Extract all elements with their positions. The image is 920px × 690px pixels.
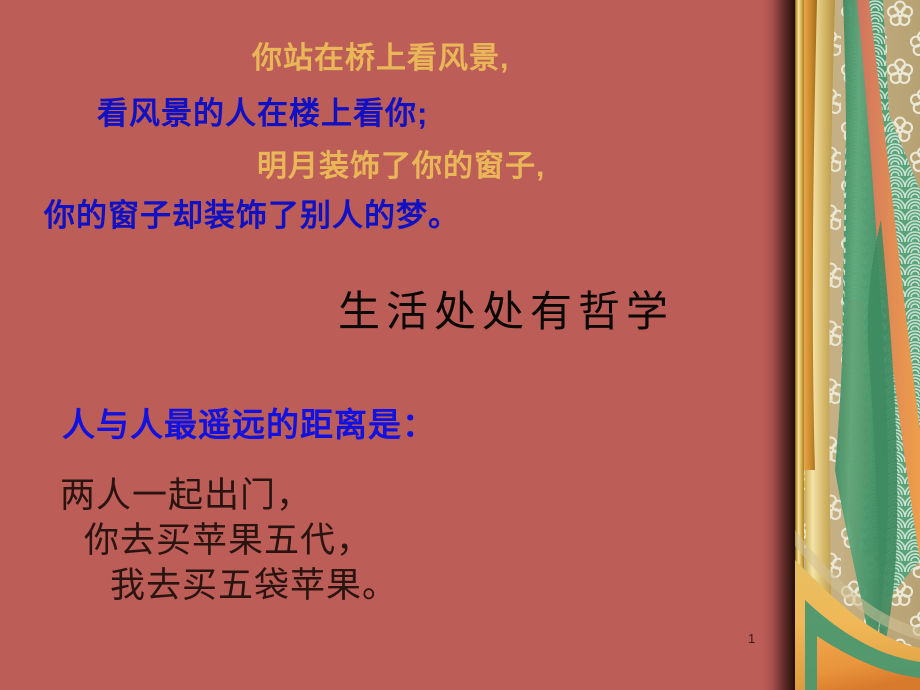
slide-content: 你站在桥上看风景, 看风景的人在楼上看你; 明月装饰了你的窗子, 你的窗子却装饰… — [0, 0, 920, 690]
joke-line-1: 两人一起出门， — [60, 478, 312, 513]
poem-line-1: 你站在桥上看风景, — [252, 44, 509, 74]
presentation-slide: 你站在桥上看风景, 看风景的人在楼上看你; 明月装饰了你的窗子, 你的窗子却装饰… — [0, 0, 920, 690]
poem-line-2: 看风景的人在楼上看你; — [97, 98, 428, 129]
poem-line-4: 你的窗子却装饰了别人的梦。 — [44, 200, 460, 231]
joke-line-2: 你去买苹果五代， — [84, 523, 372, 558]
joke-heading: 人与人最遥远的距离是： — [62, 408, 436, 441]
japanese-floral-border-graphic — [795, 0, 920, 690]
joke-line-3: 我去买五袋苹果。 — [110, 568, 398, 603]
decorative-border-panel — [795, 0, 920, 690]
slide-title: 生活处处有哲学 — [338, 292, 674, 334]
poem-line-3: 明月装饰了你的窗子, — [257, 152, 545, 182]
page-number: 1 — [748, 631, 755, 646]
